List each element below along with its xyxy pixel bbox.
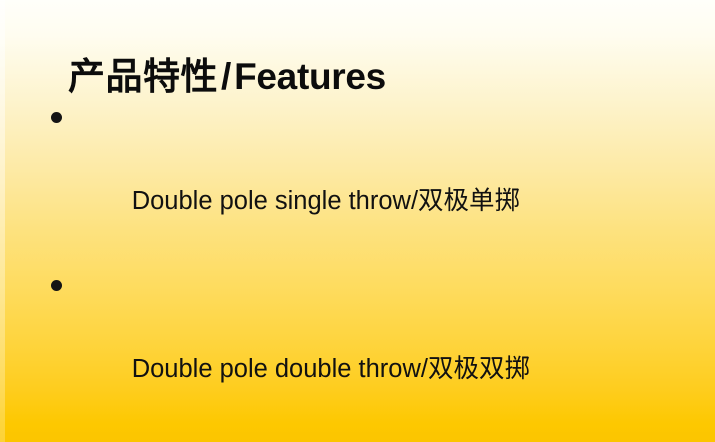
feature-list: Double pole single throw/双极单掷 Double pol… — [0, 96, 715, 442]
slide-content: 产品特性/Features Double pole single throw/双… — [0, 0, 715, 442]
bullet-dot-icon — [51, 280, 62, 291]
list-item: Double pole double throw/双极双掷 — [0, 264, 715, 432]
page-title-english: Features — [234, 56, 386, 97]
bullet-dot-icon — [51, 112, 62, 123]
slide-canvas: 产品特性/Features Double pole single throw/双… — [0, 0, 715, 442]
page-title-separator: / — [218, 56, 234, 97]
feature-text: Double pole single throw/双极单掷 — [132, 187, 520, 215]
feature-text: Double pole double throw/双极双掷 — [132, 355, 530, 383]
page-title: 产品特性/Features — [68, 55, 386, 99]
list-item: No lock ,lock on, lock off/无锁,自锁,反锁 — [0, 432, 715, 442]
page-title-chinese: 产品特性 — [68, 55, 218, 98]
list-item: Double pole single throw/双极单掷 — [0, 96, 715, 264]
